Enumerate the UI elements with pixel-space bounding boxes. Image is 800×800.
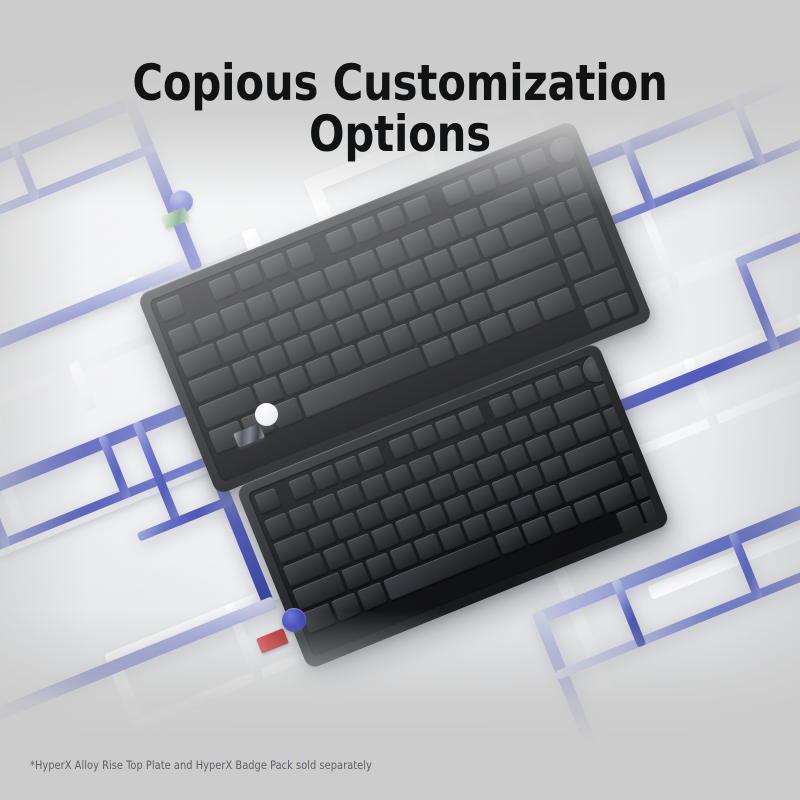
key[interactable]	[435, 415, 463, 442]
key[interactable]	[208, 273, 238, 301]
key[interactable]	[547, 505, 578, 535]
key[interactable]	[325, 226, 355, 254]
key[interactable]	[616, 505, 646, 534]
product-image: Copious Customization Options *HyperX Al…	[0, 0, 800, 800]
key[interactable]	[377, 205, 407, 233]
key[interactable]	[286, 242, 316, 270]
key[interactable]	[442, 179, 472, 207]
key[interactable]	[403, 195, 433, 223]
key[interactable]	[607, 292, 636, 321]
headline-line-1: Copious Customization	[132, 54, 667, 112]
key[interactable]	[488, 393, 516, 420]
key[interactable]	[573, 495, 604, 525]
key[interactable]	[495, 526, 526, 556]
badge-round-navy-bottom[interactable]	[282, 608, 306, 632]
key[interactable]	[156, 294, 186, 322]
key[interactable]	[388, 433, 416, 460]
key[interactable]	[358, 446, 386, 473]
key[interactable]	[254, 488, 282, 515]
key[interactable]	[493, 158, 523, 186]
key[interactable]	[331, 592, 362, 622]
key[interactable]	[558, 365, 586, 392]
key[interactable]	[351, 216, 381, 244]
page-title: Copious Customization Options	[28, 58, 772, 160]
key[interactable]	[311, 464, 339, 491]
key[interactable]	[511, 384, 539, 411]
key[interactable]	[288, 474, 316, 501]
key[interactable]	[468, 168, 498, 196]
badge-round-white-middle[interactable]	[255, 403, 278, 426]
key[interactable]	[411, 424, 439, 451]
key[interactable]	[583, 301, 612, 330]
key[interactable]	[458, 405, 486, 432]
key[interactable]	[521, 516, 552, 546]
footnote-disclaimer: *HyperX Alloy Rise Top Plate and HyperX …	[30, 758, 372, 772]
headline-line-2: Options	[84, 109, 716, 160]
key[interactable]	[234, 263, 264, 291]
key[interactable]	[535, 374, 563, 401]
key[interactable]	[357, 582, 388, 612]
key[interactable]	[260, 252, 290, 280]
key[interactable]	[334, 455, 362, 482]
